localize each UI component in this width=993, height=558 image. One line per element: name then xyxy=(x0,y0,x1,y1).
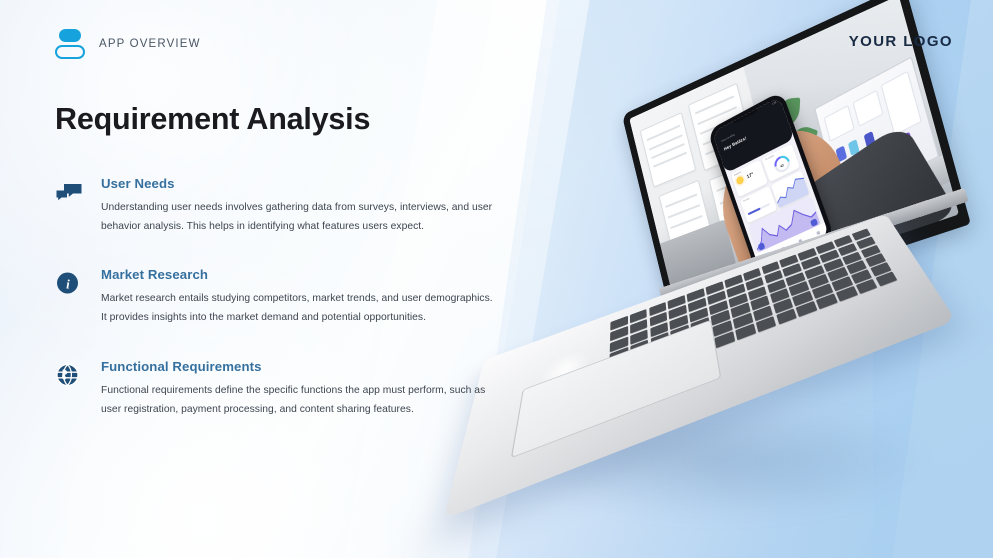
brand[interactable]: APP OVERVIEW xyxy=(55,28,201,60)
feature-body: Understanding user needs involves gather… xyxy=(101,199,493,236)
feature-body: Functional requirements define the speci… xyxy=(101,382,493,419)
feature-body: Market research entails studying competi… xyxy=(101,290,493,327)
chat-bubbles-icon xyxy=(55,178,83,206)
globe-icon xyxy=(55,361,83,389)
wireframe-sheet xyxy=(640,112,696,187)
stacked-pills-logo-icon xyxy=(55,28,85,60)
logo-pill-top xyxy=(59,29,81,42)
phone-gauge-label: Air quality xyxy=(765,155,774,161)
svg-text:i: i xyxy=(66,277,70,292)
header: APP OVERVIEW YOUR LOGO xyxy=(0,0,993,86)
laptop-mockup: LTE Good morning Hey Balázs! 17° Weather… xyxy=(470,70,990,540)
info-circle-icon: i xyxy=(55,269,83,297)
corner-logo: YOUR LOGO xyxy=(849,33,953,50)
feature-list: User Needs Understanding user needs invo… xyxy=(55,176,495,419)
phone-activity-label: Activity xyxy=(743,198,750,203)
feature-heading: Market Research xyxy=(101,267,495,282)
brand-label: APP OVERVIEW xyxy=(99,38,201,50)
phone-temperature: 17° xyxy=(746,171,754,179)
phone-status-bar: LTE xyxy=(772,101,776,105)
feature-item-market-research: i Market Research Market research entail… xyxy=(55,267,495,327)
page-title: Requirement Analysis xyxy=(55,102,370,137)
feature-item-functional-requirements: Functional Requirements Functional requi… xyxy=(55,359,495,419)
feature-heading: User Needs xyxy=(101,176,495,191)
sun-icon xyxy=(735,176,744,186)
feature-item-user-needs: User Needs Understanding user needs invo… xyxy=(55,176,495,236)
progress-bar xyxy=(747,202,770,215)
laptop-body: LTE Good morning Hey Balázs! 17° Weather… xyxy=(417,9,993,558)
feature-heading: Functional Requirements xyxy=(101,359,495,374)
logo-pill-bottom xyxy=(55,45,85,59)
